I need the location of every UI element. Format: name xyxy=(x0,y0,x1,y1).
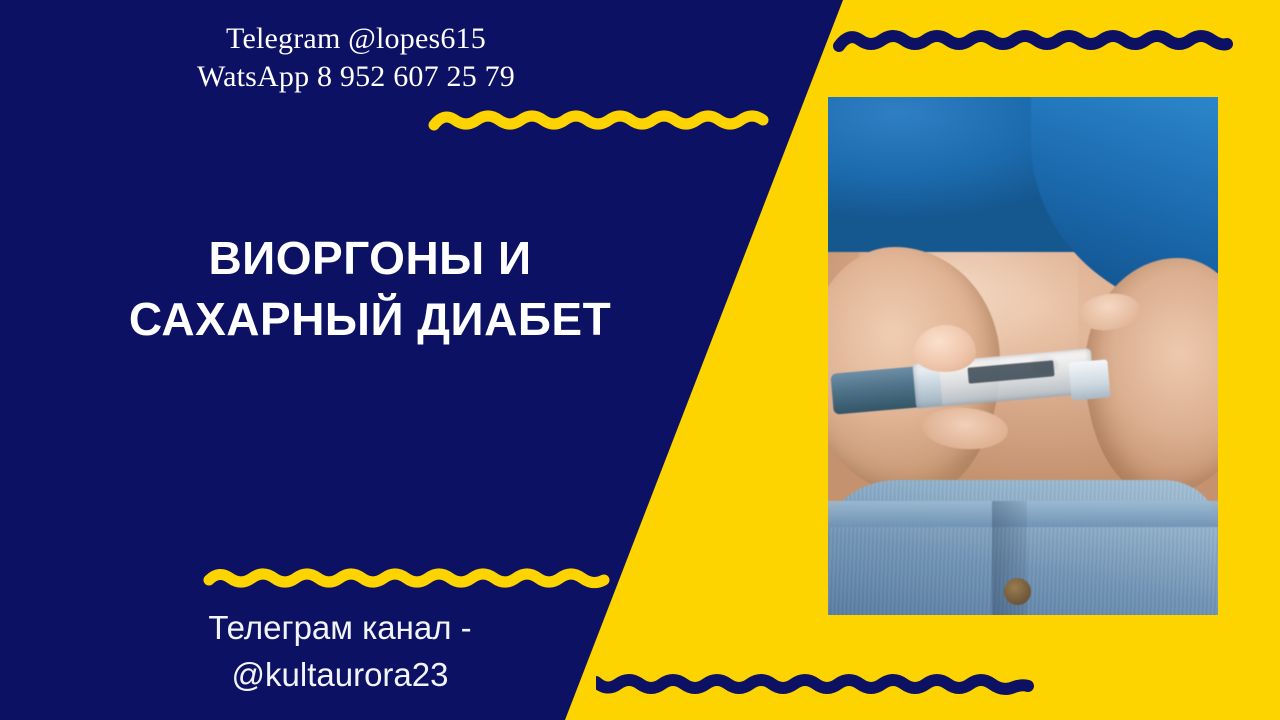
headline-line-2: САХАРНЫЙ ДИАБЕТ xyxy=(40,289,700,350)
telegram-channel-block: Телеграм канал - @kultaurora23 xyxy=(20,605,660,699)
headline-line-1: ВИОРГОНЫ И xyxy=(40,228,700,289)
telegram-handle-line: Telegram @lopes615 xyxy=(0,20,712,58)
page-title: ВИОРГОНЫ И САХАРНЫЙ ДИАБЕТ xyxy=(40,228,700,349)
channel-handle-line: @kultaurora23 xyxy=(20,652,660,699)
wavy-line-lower-right-icon xyxy=(596,668,1036,702)
channel-label-line: Телеграм канал - xyxy=(20,605,660,652)
wavy-line-lower-left-icon xyxy=(203,562,617,594)
whatsapp-phone-line: WatsApp 8 952 607 25 79 xyxy=(0,58,712,96)
wavy-line-top-right-icon xyxy=(833,23,1233,57)
insulin-injection-photo xyxy=(828,97,1218,615)
insulin-pen-tip xyxy=(1068,360,1110,402)
left-hand-thumb xyxy=(914,325,976,372)
wavy-line-upper-left-icon xyxy=(428,104,772,136)
poster-canvas: Telegram @lopes615 WatsApp 8 952 607 25 … xyxy=(0,0,1280,720)
photo-composition xyxy=(828,97,1218,615)
contact-details: Telegram @lopes615 WatsApp 8 952 607 25 … xyxy=(0,20,712,97)
jeans-button xyxy=(1004,578,1031,605)
